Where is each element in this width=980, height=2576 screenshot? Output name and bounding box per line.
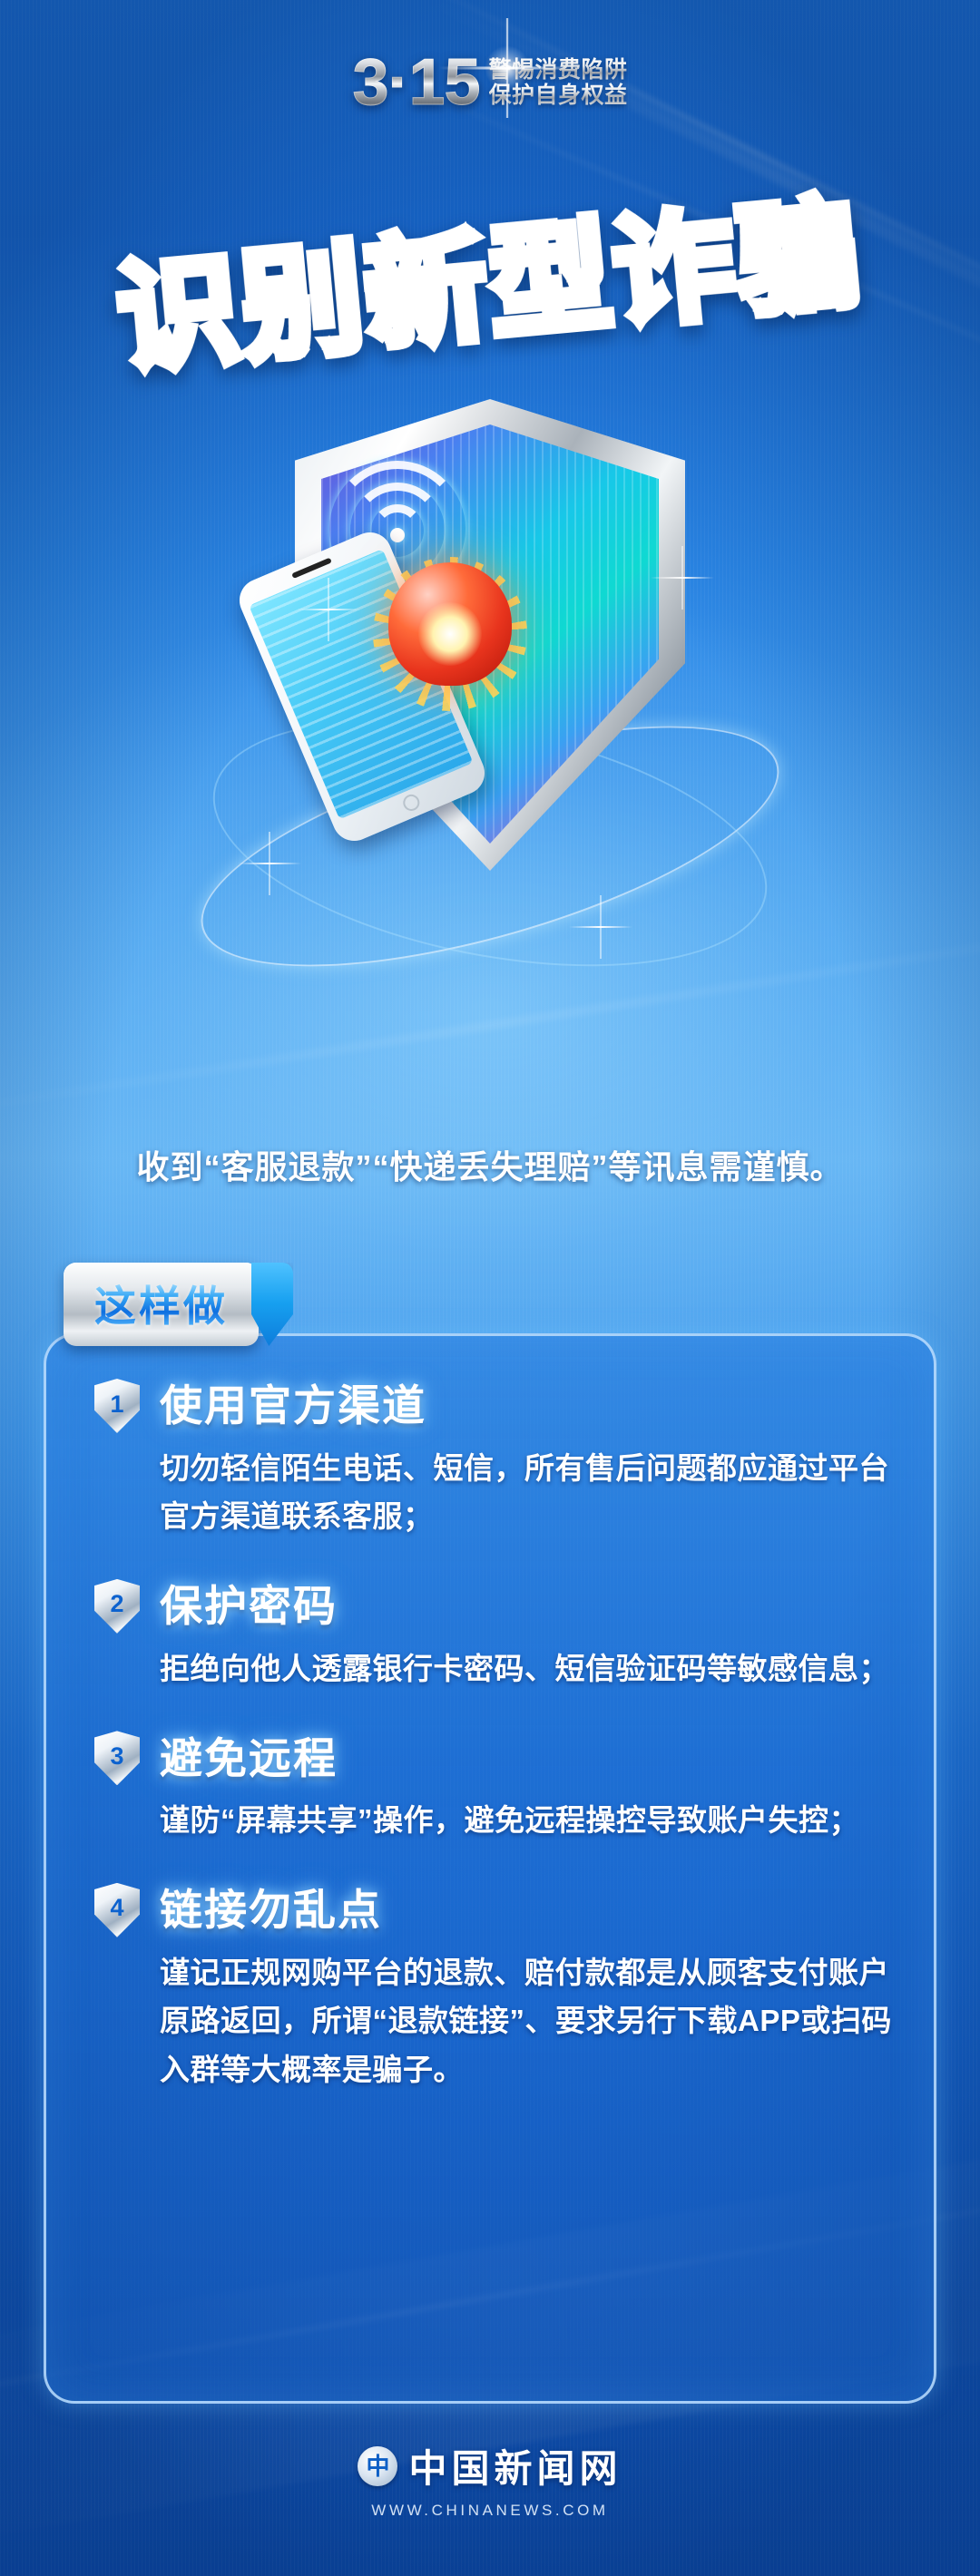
tip-number: 3 bbox=[110, 1744, 123, 1769]
sparkle-icon bbox=[681, 576, 684, 580]
tip-header: 2保护密码 bbox=[94, 1579, 893, 1634]
sparkle-glow-icon bbox=[485, 45, 530, 91]
tip-number: 2 bbox=[110, 1592, 123, 1616]
tip-number: 4 bbox=[110, 1896, 123, 1920]
footer: 中 中国新闻网 WWW.CHINANEWS.COM bbox=[0, 2438, 980, 2520]
tip-title: 使用官方渠道 bbox=[160, 1383, 426, 1428]
footer-logo: 中 中国新闻网 bbox=[0, 2438, 980, 2493]
tip-title: 链接勿乱点 bbox=[160, 1888, 382, 1932]
tip-number: 1 bbox=[110, 1392, 123, 1417]
section-tab-body: 这样做 bbox=[64, 1263, 259, 1346]
tip-number-shield-icon: 2 bbox=[94, 1579, 140, 1634]
tip-body: 谨防“屏幕共享”操作，避免远程操控导致账户失控； bbox=[160, 1796, 893, 1844]
section-tab: 这样做 bbox=[64, 1263, 293, 1346]
tip-title: 保护密码 bbox=[160, 1584, 338, 1628]
brand-name: 中国新闻网 bbox=[408, 2438, 622, 2493]
sparkle-icon bbox=[327, 608, 330, 611]
hero-caption: 收到“客服退款”“快递丢失理赔”等讯息需谨慎。 bbox=[0, 1141, 980, 1188]
tip-item: 1使用官方渠道切勿轻信陌生电话、短信，所有售后问题都应通过平台官方渠道联系客服； bbox=[94, 1379, 893, 1541]
poster-root: 3·15 警惕消费陷阱 保护自身权益 识别新型诈骗 bbox=[0, 0, 980, 2576]
tip-number-shield-icon: 1 bbox=[94, 1379, 140, 1433]
tip-header: 3避免远程 bbox=[94, 1731, 893, 1785]
sparkle-icon bbox=[599, 925, 603, 929]
brand-mark-icon: 中 bbox=[358, 2446, 397, 2486]
tips-list: 1使用官方渠道切勿轻信陌生电话、短信，所有售后问题都应通过平台官方渠道联系客服；… bbox=[94, 1379, 893, 2093]
brand-mark-char: 中 bbox=[366, 2454, 389, 2478]
tip-title: 避免远程 bbox=[160, 1736, 338, 1781]
tip-body: 拒绝向他人透露银行卡密码、短信验证码等敏感信息； bbox=[160, 1644, 893, 1693]
tip-header: 4链接勿乱点 bbox=[94, 1883, 893, 1937]
tip-item: 3避免远程谨防“屏幕共享”操作，避免远程操控导致账户失控； bbox=[94, 1731, 893, 1844]
tip-body: 切勿轻信陌生电话、短信，所有售后问题都应通过平台官方渠道联系客服； bbox=[160, 1444, 893, 1541]
tip-number-shield-icon: 3 bbox=[94, 1731, 140, 1785]
date-logo-315: 3·15 bbox=[352, 53, 479, 112]
tip-header: 1使用官方渠道 bbox=[94, 1379, 893, 1433]
tip-item: 4链接勿乱点谨记正规网购平台的退款、赔付款都是从顾客支付账户原路返回，所谓“退款… bbox=[94, 1883, 893, 2093]
alarm-siren-icon bbox=[388, 562, 512, 686]
brand-url: WWW.CHINANEWS.COM bbox=[0, 2502, 980, 2520]
page-title-text: 识别新型诈骗 bbox=[113, 193, 867, 381]
siren-core-glow bbox=[418, 602, 482, 666]
tip-body: 谨记正规网购平台的退款、赔付款都是从顾客支付账户原路返回，所谓“退款链接”、要求… bbox=[160, 1948, 893, 2093]
tip-number-shield-icon: 4 bbox=[94, 1883, 140, 1937]
sparkle-icon bbox=[268, 862, 271, 865]
hero-illustration bbox=[172, 390, 808, 1043]
tip-item: 2保护密码拒绝向他人透露银行卡密码、短信验证码等敏感信息； bbox=[94, 1579, 893, 1693]
section-tab-label: 这样做 bbox=[94, 1283, 228, 1330]
phone-home-button bbox=[401, 792, 423, 814]
page-title: 识别新型诈骗 bbox=[0, 182, 980, 391]
